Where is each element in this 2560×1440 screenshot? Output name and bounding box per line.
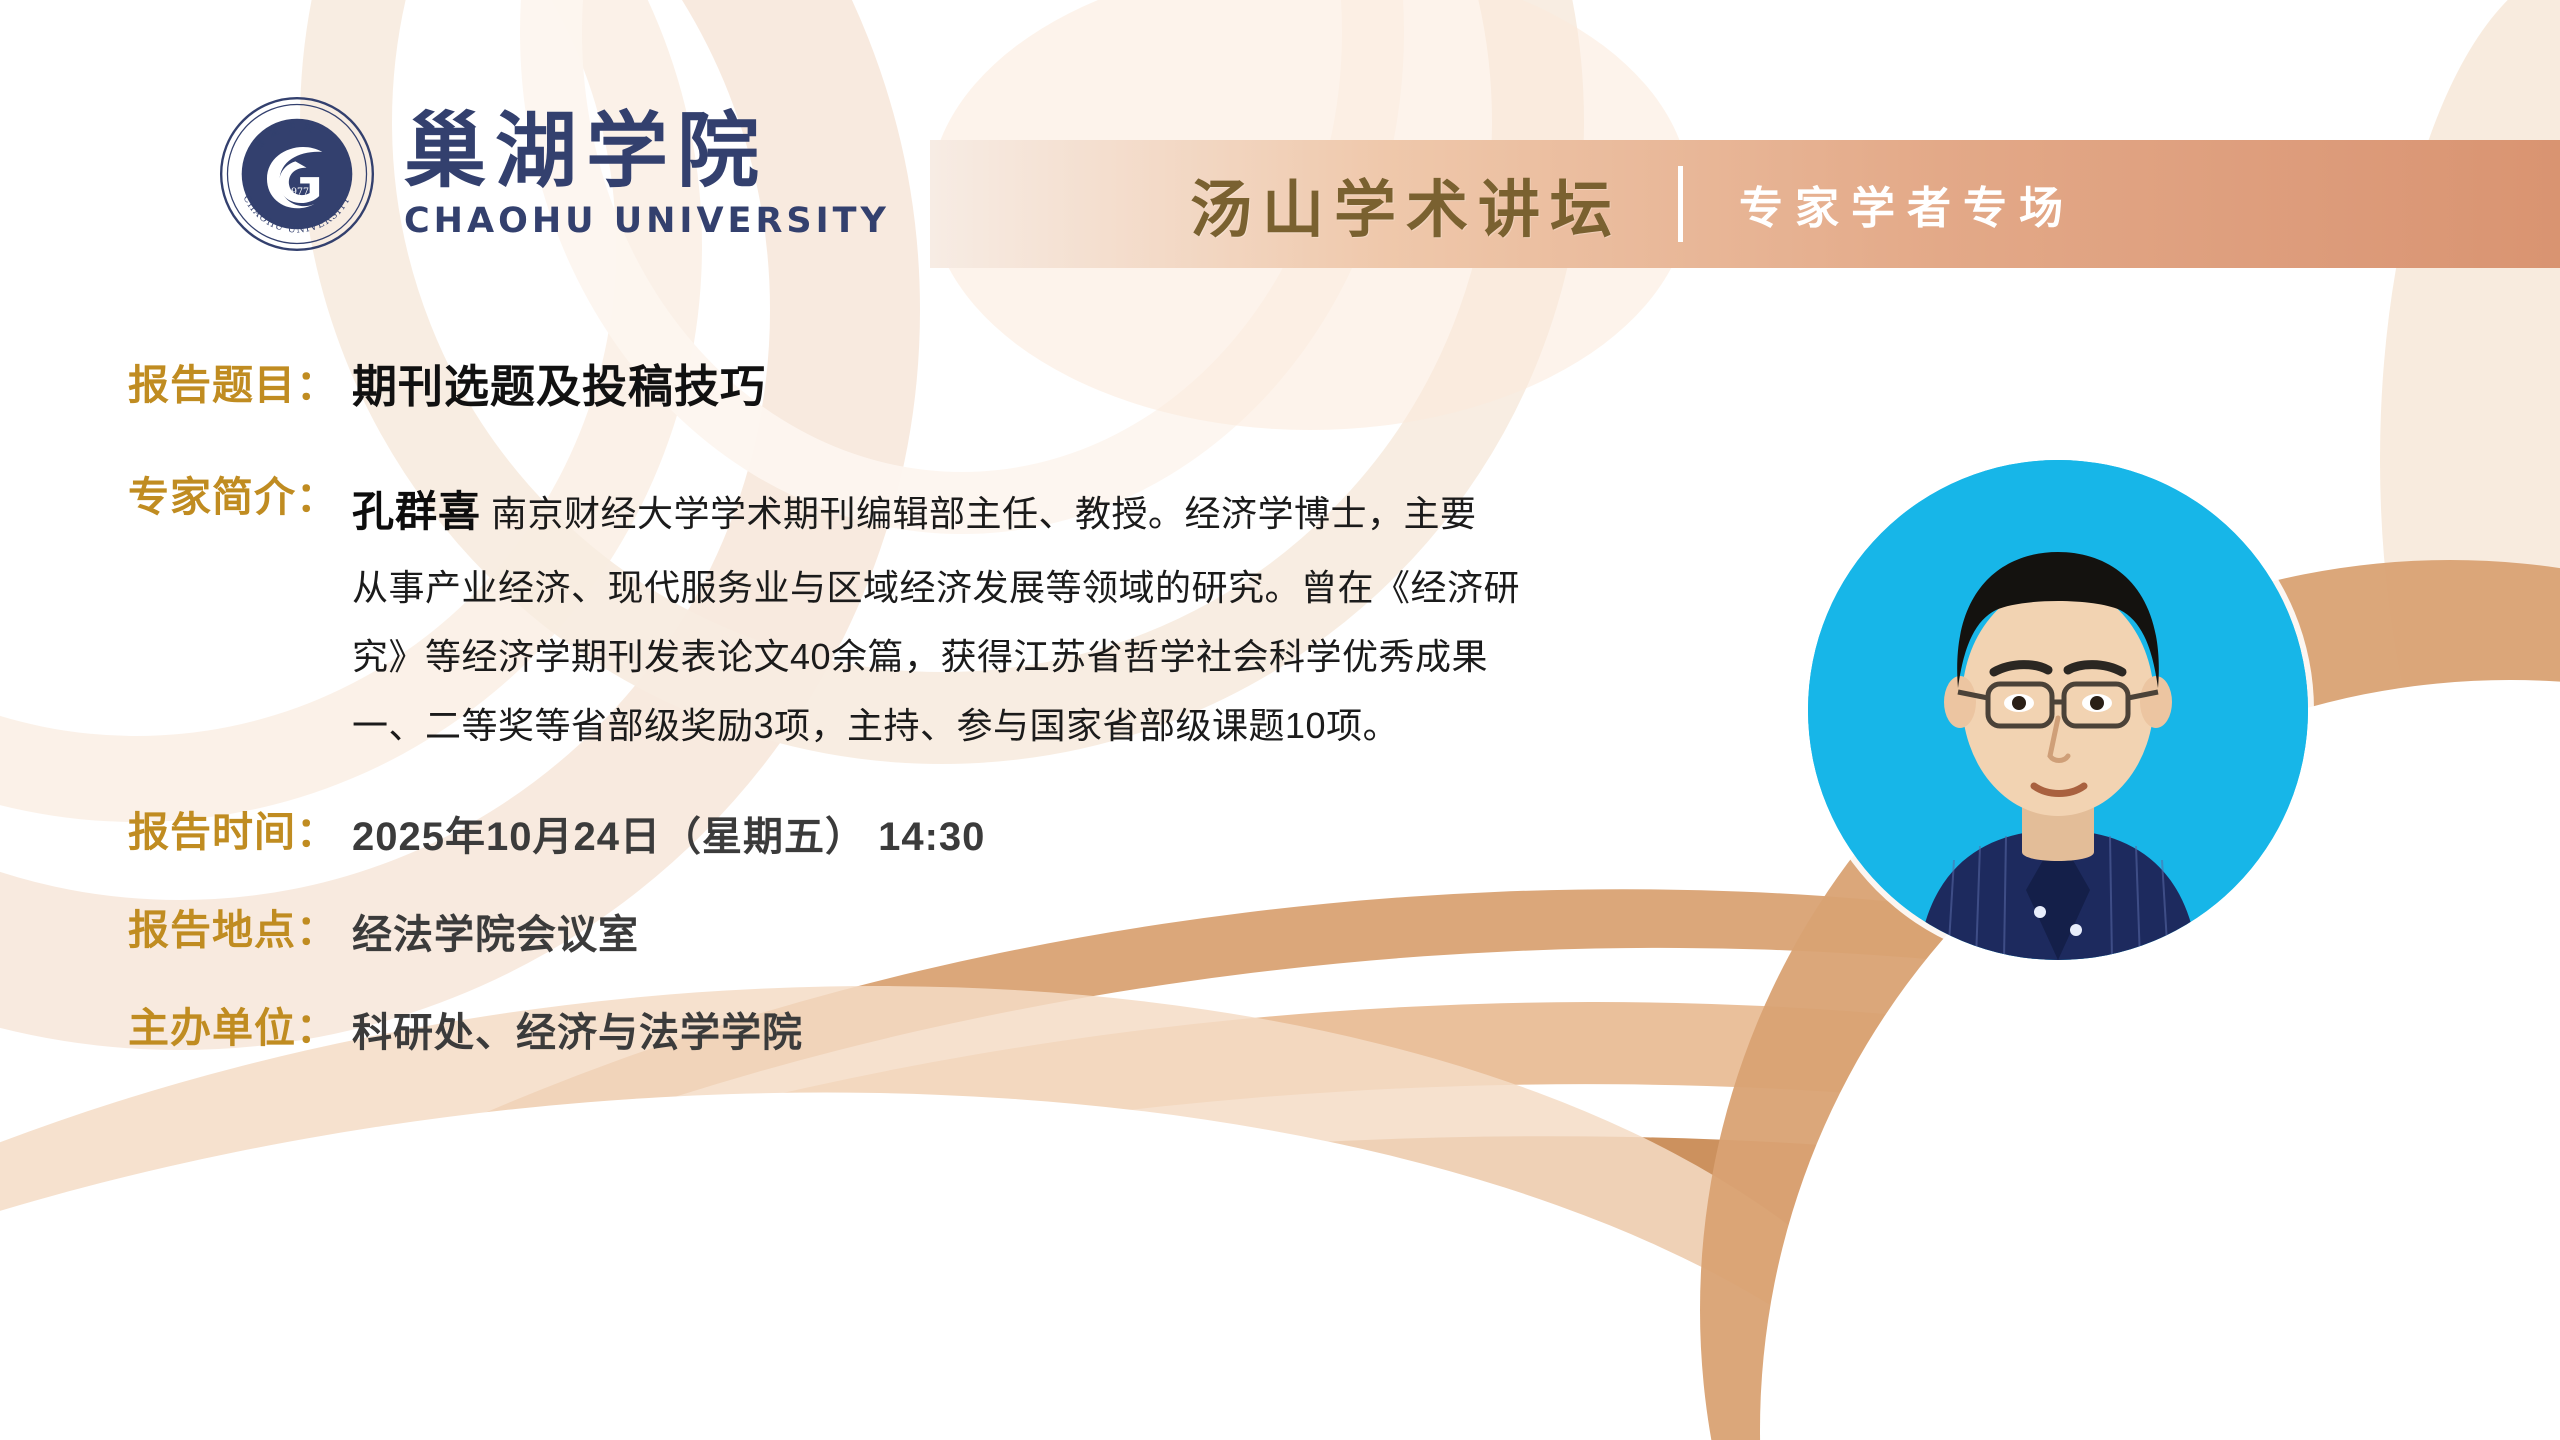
- bio-row: 专家简介： 孔群喜南京财经大学学术期刊编辑部主任、教授。经济学博士，主要 从事产…: [128, 472, 1778, 760]
- bio-line-3: 究》等经济学期刊发表论文40余篇，获得江苏省哲学社会科学优秀成果: [352, 622, 1732, 691]
- banner-title: 汤山学术讲坛: [1190, 159, 1622, 249]
- university-logo: 1977 巢 湖 学 院 CHAOHU UNIVERSITY 巢湖学院 CHAO…: [218, 95, 890, 253]
- host-label: 主办单位：: [128, 1003, 338, 1054]
- speaker-name: 孔群喜: [352, 488, 481, 535]
- place-value: 经法学院会议室: [352, 902, 639, 960]
- speaker-portrait: [1808, 460, 2308, 960]
- poster-content: 报告题目： 期刊选题及投稿技巧 专家简介： 孔群喜南京财经大学学术期刊编辑部主任…: [128, 360, 1778, 1098]
- bio-line-4: 一、二等奖等省部级奖励3项，主持、参与国家省部级课题10项。: [352, 691, 1732, 760]
- topic-value: 期刊选题及投稿技巧: [352, 360, 766, 414]
- bio-body: 孔群喜南京财经大学学术期刊编辑部主任、教授。经济学博士，主要 从事产业经济、现代…: [352, 472, 1732, 760]
- lecture-poster: 汤山学术讲坛 专家学者专场 1977 巢 湖 学 院 CHAOHU UNIVER…: [0, 0, 2560, 1440]
- topic-label: 报告题目：: [128, 360, 338, 411]
- time-label: 报告时间：: [128, 807, 338, 858]
- banner-divider: [1678, 166, 1683, 242]
- bio-text-1: 南京财经大学学术期刊编辑部主任、教授。经济学博士，主要: [491, 493, 1477, 534]
- place-label: 报告地点：: [128, 905, 338, 956]
- time-value: 2025年10月24日（星期五） 14:30: [352, 804, 985, 862]
- decor-band-5: [0, 1055, 2560, 1440]
- place-row: 报告地点： 经法学院会议室: [128, 902, 1778, 960]
- portrait-illustration: [1808, 460, 2308, 960]
- logo-name-en: CHAOHU UNIVERSITY: [404, 204, 890, 239]
- topic-row: 报告题目： 期刊选题及投稿技巧: [128, 360, 1778, 414]
- svg-text:1977: 1977: [285, 187, 309, 198]
- bio-label: 专家简介：: [128, 472, 338, 523]
- banner-subtitle: 专家学者专场: [1739, 172, 2075, 236]
- bio-line-2: 从事产业经济、现代服务业与区域经济发展等领域的研究。曾在《经济研: [352, 553, 1732, 622]
- bio-line-1: 孔群喜南京财经大学学术期刊编辑部主任、教授。经济学博士，主要: [352, 472, 1732, 553]
- host-row: 主办单位： 科研处、经济与法学学院: [128, 1000, 1778, 1058]
- forum-banner: 汤山学术讲坛 专家学者专场: [930, 140, 2560, 268]
- time-row: 报告时间： 2025年10月24日（星期五） 14:30: [128, 804, 1778, 862]
- logo-name-cn: 巢湖学院: [404, 110, 890, 192]
- university-seal-icon: 1977 巢 湖 学 院 CHAOHU UNIVERSITY: [218, 95, 376, 253]
- host-value: 科研处、经济与法学学院: [352, 1000, 803, 1058]
